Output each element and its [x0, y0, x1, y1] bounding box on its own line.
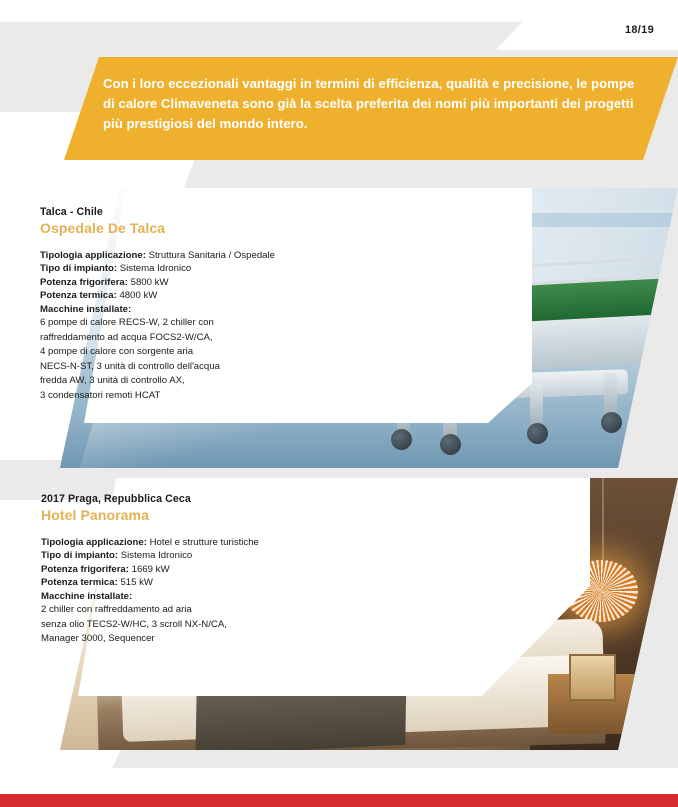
spec-value: 515 kW: [120, 577, 153, 588]
bottom-red-rule: [0, 794, 678, 807]
quote-text: Con i loro eccezionali vantaggi in termi…: [103, 74, 643, 134]
machines-label-row: Macchine installate:: [41, 590, 341, 603]
machines-list: 6 pompe di calore RECS-W, 2 chiller con …: [40, 316, 340, 404]
spec-value: Sistema Idronico: [120, 263, 191, 274]
project-title: Hotel Panorama: [41, 507, 341, 523]
spec-label: Tipo di impianto:: [40, 263, 117, 274]
gurney-wheel: [601, 412, 622, 433]
gurney-wheel: [391, 429, 412, 450]
machines-label: Macchine installate:: [40, 304, 131, 315]
spec-row: Tipologia applicazione: Struttura Sanita…: [40, 249, 340, 262]
spec-row: Potenza termica: 515 kW: [41, 576, 341, 589]
spec-row: Tipo di impianto: Sistema Idronico: [41, 549, 341, 562]
spec-label: Tipologia applicazione:: [41, 537, 147, 548]
brochure-page: 18/19 Con i loro eccezionali vantaggi in…: [0, 0, 678, 807]
gurney-leg: [604, 373, 618, 418]
spec-label: Potenza termica:: [41, 577, 118, 588]
project-location: 2017 Praga, Repubblica Ceca: [41, 493, 341, 505]
machines-list: 2 chiller con raffreddamento ad aria sen…: [41, 603, 341, 647]
spec-value: Sistema Idronico: [121, 550, 192, 561]
spec-row: Tipologia applicazione: Hotel e struttur…: [41, 536, 341, 549]
project-location: Talca - Chile: [40, 206, 340, 218]
spec-label: Potenza frigorifera:: [41, 564, 129, 575]
spec-label: Tipologia applicazione:: [40, 250, 146, 261]
spec-value: 5800 kW: [131, 277, 169, 288]
gurney-wheel: [527, 423, 548, 444]
spec-label: Potenza termica:: [40, 290, 117, 301]
spec-value: 4800 kW: [119, 290, 157, 301]
machines-label: Macchine installate:: [41, 591, 132, 602]
picture-frame: [569, 654, 616, 702]
top-white-band: [0, 0, 678, 22]
spec-value: Struttura Sanitaria / Ospedale: [149, 250, 275, 261]
project-card-ospedale-de-talca: Talca - Chile Ospedale De Talca Tipologi…: [0, 188, 678, 468]
project-card-hotel-panorama: 2017 Praga, Repubblica Ceca Hotel Panora…: [0, 478, 678, 750]
gurney-leg: [530, 384, 544, 429]
spec-label: Tipo di impianto:: [41, 550, 118, 561]
spec-row: Potenza frigorifera: 1669 kW: [41, 563, 341, 576]
spec-row: Tipo di impianto: Sistema Idronico: [40, 262, 340, 275]
project-details: 2017 Praga, Repubblica Ceca Hotel Panora…: [41, 493, 341, 647]
spec-value: 1669 kW: [132, 564, 170, 575]
spec-label: Potenza frigorifera:: [40, 277, 128, 288]
machines-label-row: Macchine installate:: [40, 303, 340, 316]
spec-row: Potenza termica: 4800 kW: [40, 289, 340, 302]
project-details: Talca - Chile Ospedale De Talca Tipologi…: [40, 206, 340, 404]
spec-row: Potenza frigorifera: 5800 kW: [40, 276, 340, 289]
project-title: Ospedale De Talca: [40, 220, 340, 236]
pendant-lamp-cord: [602, 478, 604, 560]
bottom-white-band: [0, 768, 678, 794]
spec-value: Hotel e strutture turistiche: [150, 537, 259, 548]
page-number: 18/19: [625, 24, 654, 36]
